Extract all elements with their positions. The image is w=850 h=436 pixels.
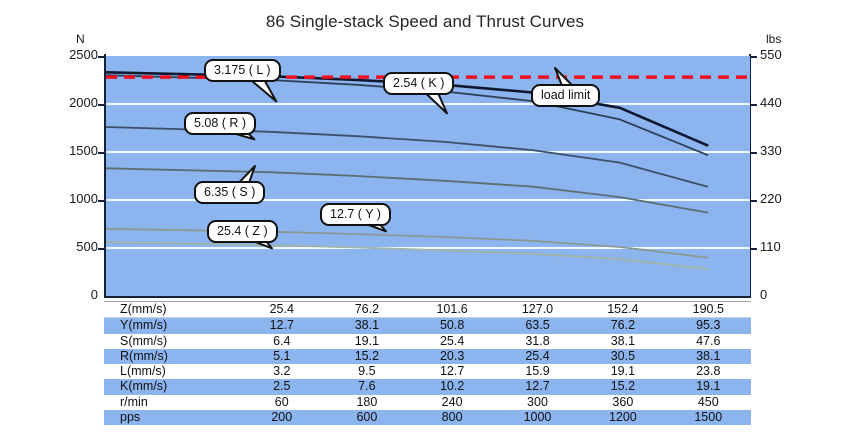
y-tick-mark-right — [751, 152, 757, 154]
table-cell: 25.4 — [495, 349, 580, 364]
table-row-label: S(mm/s) — [104, 334, 239, 349]
table-row-label: Z(mm/s) — [104, 302, 239, 318]
y-axis-unit-left: N — [76, 32, 85, 46]
table-cell: 800 — [409, 410, 494, 425]
y-tick-mark-left — [98, 104, 104, 106]
table-row: r/min60180240300360450 — [104, 395, 751, 410]
y-tick-label-right: 0 — [760, 287, 767, 302]
table-cell: 76.2 — [580, 318, 665, 334]
table-cell: 300 — [495, 395, 580, 410]
table-cell: 152.4 — [580, 302, 665, 318]
table-cell: 31.8 — [495, 334, 580, 349]
x-axis-line — [104, 296, 751, 298]
y-tick-mark-left — [98, 200, 104, 202]
table-cell: 10.2 — [409, 379, 494, 394]
y-tick-label-left: 0 — [52, 287, 98, 302]
table-cell: 101.6 — [409, 302, 494, 318]
y-tick-mark-left — [98, 248, 104, 250]
table-cell: 5.1 — [239, 349, 324, 364]
table-cell: 15.2 — [580, 379, 665, 394]
table-row-label: pps — [104, 410, 239, 425]
table-cell: 240 — [409, 395, 494, 410]
table-row: R(mm/s)5.115.220.325.430.538.1 — [104, 349, 751, 364]
table-cell: 63.5 — [495, 318, 580, 334]
table-cell: 6.4 — [239, 334, 324, 349]
table-cell: 15.2 — [324, 349, 409, 364]
table-cell: 76.2 — [324, 302, 409, 318]
y-tick-mark-left — [98, 152, 104, 154]
table-cell: 19.1 — [580, 364, 665, 379]
table-row: Z(mm/s)25.476.2101.6127.0152.4190.5 — [104, 302, 751, 318]
table-cell: 127.0 — [495, 302, 580, 318]
y-tick-label-right: 330 — [760, 143, 782, 158]
table-row-label: K(mm/s) — [104, 379, 239, 394]
callout-load-limit: load limit — [531, 84, 600, 107]
y-tick-label-right: 110 — [760, 239, 781, 254]
table-cell: 1200 — [580, 410, 665, 425]
table-row: Y(mm/s)12.738.150.863.576.295.3 — [104, 318, 751, 334]
y-tick-label-right: 220 — [760, 191, 782, 206]
callout-s: 6.35 ( S ) — [194, 181, 265, 204]
table-cell: 12.7 — [239, 318, 324, 334]
table-cell: 1000 — [495, 410, 580, 425]
y-tick-mark-right — [751, 248, 757, 250]
table-cell: 95.3 — [666, 318, 751, 334]
y-tick-mark-right — [751, 200, 757, 202]
table-cell: 25.4 — [409, 334, 494, 349]
table-cell: 19.1 — [324, 334, 409, 349]
y-tick-label-right: 440 — [760, 95, 782, 110]
table-row: L(mm/s)3.29.512.715.919.123.8 — [104, 364, 751, 379]
table-row-label: r/min — [104, 395, 239, 410]
table-cell: 190.5 — [666, 302, 751, 318]
y-tick-label-left: 2500 — [52, 47, 98, 62]
table-cell: 600 — [324, 410, 409, 425]
table-cell: 60 — [239, 395, 324, 410]
y-tick-label-left: 500 — [52, 239, 98, 254]
table-cell: 25.4 — [239, 302, 324, 318]
y-axis-unit-right: lbs — [766, 32, 781, 46]
table-cell: 360 — [580, 395, 665, 410]
callout-l: 3.175 ( L ) — [204, 59, 281, 82]
table-cell: 180 — [324, 395, 409, 410]
table-cell: 30.5 — [580, 349, 665, 364]
y-tick-label-right: 550 — [760, 47, 782, 62]
table-cell: 38.1 — [580, 334, 665, 349]
table-cell: 450 — [666, 395, 751, 410]
table-row-label: Y(mm/s) — [104, 318, 239, 334]
table-cell: 50.8 — [409, 318, 494, 334]
table-cell: 19.1 — [666, 379, 751, 394]
page-title: 86 Single-stack Speed and Thrust Curves — [0, 12, 850, 32]
y-tick-label-left: 2000 — [52, 95, 98, 110]
table-cell: 9.5 — [324, 364, 409, 379]
table-row: pps200600800100012001500 — [104, 410, 751, 425]
data-table: Z(mm/s)25.476.2101.6127.0152.4190.5Y(mm/… — [104, 301, 751, 425]
chart-container: 86 Single-stack Speed and Thrust Curves … — [0, 0, 850, 436]
table-row: S(mm/s)6.419.125.431.838.147.6 — [104, 334, 751, 349]
table-cell: 3.2 — [239, 364, 324, 379]
y-tick-mark-right — [751, 104, 757, 106]
table-cell: 20.3 — [409, 349, 494, 364]
series-line-r — [106, 127, 707, 187]
y-tick-label-left: 1500 — [52, 143, 98, 158]
table-cell: 2.5 — [239, 379, 324, 394]
table-cell: 12.7 — [495, 379, 580, 394]
y-tick-label-left: 1000 — [52, 191, 98, 206]
table-cell: 38.1 — [324, 318, 409, 334]
callout-z: 25.4 ( Z ) — [207, 220, 278, 243]
y-tick-mark-left — [98, 56, 104, 58]
table-cell: 38.1 — [666, 349, 751, 364]
table-cell: 15.9 — [495, 364, 580, 379]
table-cell: 200 — [239, 410, 324, 425]
callout-k: 2.54 ( K ) — [383, 72, 454, 95]
table-cell: 7.6 — [324, 379, 409, 394]
table-cell: 23.8 — [666, 364, 751, 379]
table-cell: 12.7 — [409, 364, 494, 379]
table-row-label: R(mm/s) — [104, 349, 239, 364]
table-cell: 47.6 — [666, 334, 751, 349]
callout-y: 12.7 ( Y ) — [320, 203, 391, 226]
table-row: K(mm/s)2.57.610.212.715.219.1 — [104, 379, 751, 394]
table-row-label: L(mm/s) — [104, 364, 239, 379]
table-cell: 1500 — [666, 410, 751, 425]
callout-r: 5.08 ( R ) — [184, 112, 256, 135]
y-tick-mark-right — [751, 56, 757, 58]
